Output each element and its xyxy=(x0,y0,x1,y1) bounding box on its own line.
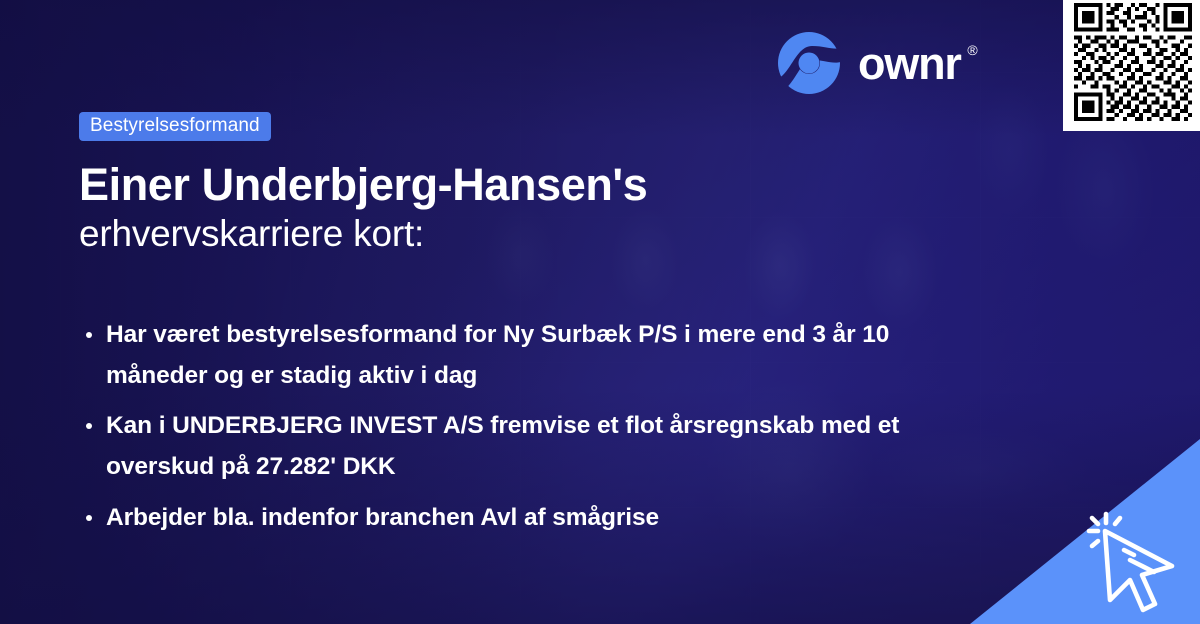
list-item: Har været bestyrelsesformand for Ny Surb… xyxy=(83,315,963,396)
list-item: Arbejder bla. indenfor branchen Avl af s… xyxy=(83,498,963,539)
ownr-wordmark-text: ownr xyxy=(858,38,961,89)
page-subtitle: erhvervskarriere kort: xyxy=(79,213,959,254)
role-badge: Bestyrelsesformand xyxy=(79,112,271,141)
headline-block: Bestyrelsesformand Einer Underbjerg-Hans… xyxy=(79,112,959,254)
ownr-circle-swoosh-logo xyxy=(776,30,842,96)
list-item: Kan i UNDERBJERG INVEST A/S fremvise et … xyxy=(83,406,963,487)
promo-card: ownr ® xyxy=(0,0,1200,624)
registered-trademark-icon: ® xyxy=(967,43,977,57)
career-highlights-list: Har været bestyrelsesformand for Ny Surb… xyxy=(83,315,963,548)
qr-code xyxy=(1074,3,1192,121)
page-title: Einer Underbjerg-Hansen's xyxy=(79,161,959,209)
click-cursor-icon xyxy=(1072,498,1192,618)
ownr-logo[interactable]: ownr ® xyxy=(776,30,961,96)
ownr-wordmark: ownr ® xyxy=(858,41,961,86)
qr-code-panel[interactable] xyxy=(1063,0,1200,131)
